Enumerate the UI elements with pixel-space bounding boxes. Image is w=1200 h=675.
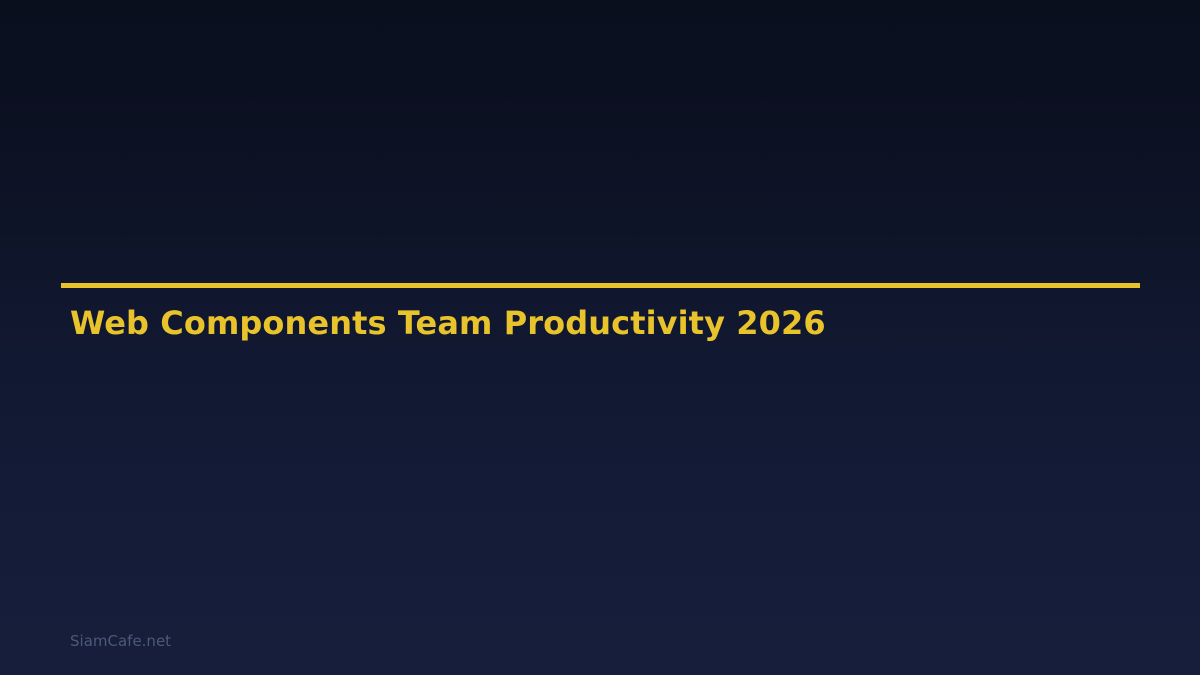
presentation-slide: Web Components Team Productivity 2026 Si… — [0, 0, 1200, 675]
slide-footer: SiamCafe.net — [70, 631, 171, 651]
footer-brand-label: SiamCafe.net — [70, 632, 171, 650]
accent-rule-divider — [61, 283, 1140, 288]
page-title: Web Components Team Productivity 2026 — [70, 303, 826, 343]
title-block: Web Components Team Productivity 2026 — [61, 283, 1140, 288]
